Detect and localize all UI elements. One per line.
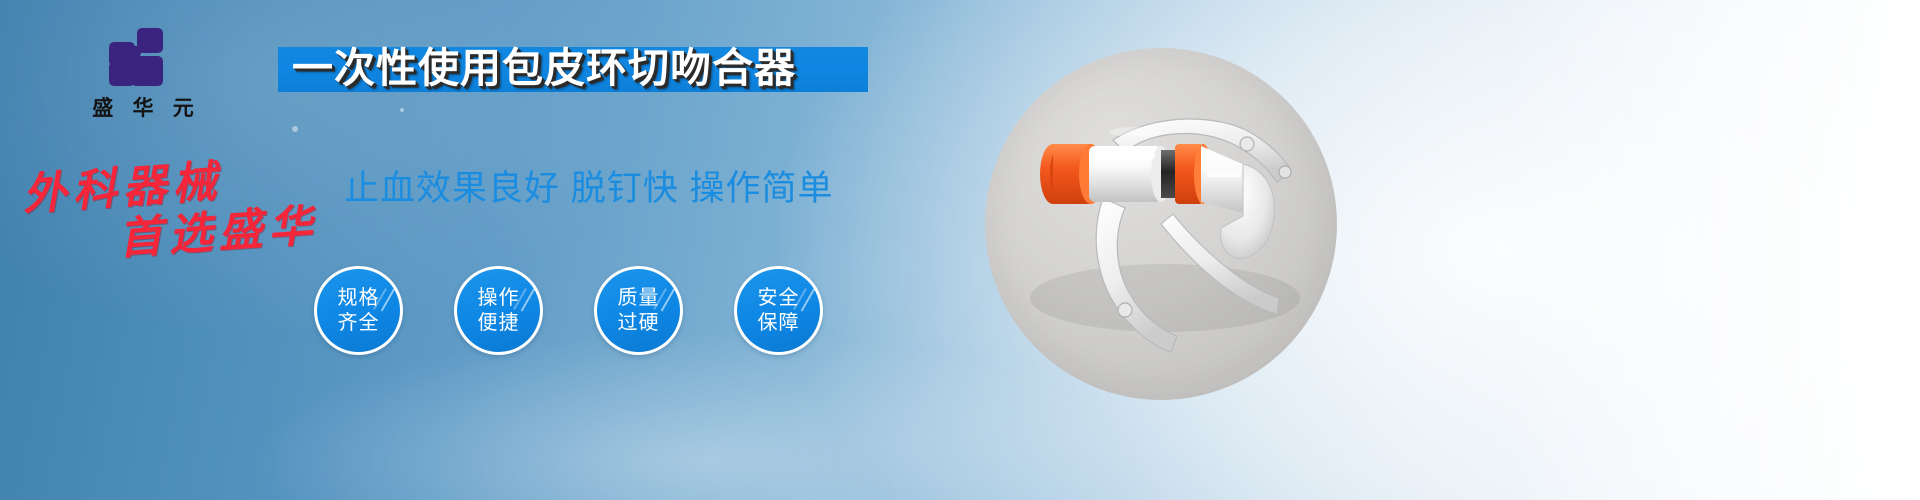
slash-decoration-icon bbox=[521, 285, 538, 312]
feature-badge-label-bottom: 保障 bbox=[758, 311, 800, 336]
feature-badge-safety[interactable]: 安全 保障 bbox=[734, 266, 823, 355]
slash-decoration-icon bbox=[801, 285, 818, 312]
feature-badge-list: 规格 齐全 操作 便捷 质量 过硬 安全 保障 bbox=[314, 266, 823, 355]
feature-badge-label-top: 安全 bbox=[758, 286, 800, 311]
subtitle: 止血效果良好 脱钉快 操作简单 bbox=[344, 166, 833, 212]
background-glow-bottom bbox=[250, 330, 1150, 500]
logo-mark-icon bbox=[109, 28, 177, 86]
feature-badge-label-bottom: 过硬 bbox=[618, 311, 660, 336]
page-title: 一次性使用包皮环切吻合器 bbox=[292, 40, 892, 96]
slogan-line-2: 首选盛华 bbox=[116, 189, 320, 267]
decorative-dot bbox=[292, 126, 298, 132]
right-edge-fade bbox=[1500, 0, 1920, 500]
feature-badge-label-bottom: 齐全 bbox=[338, 311, 380, 336]
slash-decoration-icon bbox=[381, 285, 398, 312]
decorative-dot bbox=[400, 108, 404, 112]
feature-badge-label-bottom: 便捷 bbox=[478, 311, 520, 336]
feature-badge-label-top: 操作 bbox=[478, 286, 520, 311]
logo-wordmark: 盛 华 元 bbox=[58, 92, 228, 122]
feature-badge-spec[interactable]: 规格 齐全 bbox=[314, 266, 403, 355]
feature-badge-label-top: 规格 bbox=[338, 286, 380, 311]
feature-badge-operation[interactable]: 操作 便捷 bbox=[454, 266, 543, 355]
product-photo[interactable] bbox=[985, 48, 1337, 400]
nose-cone bbox=[1201, 146, 1247, 214]
brand-logo[interactable]: 盛 华 元 bbox=[58, 28, 228, 122]
feature-badge-label-top: 质量 bbox=[618, 286, 660, 311]
slash-decoration-icon bbox=[661, 285, 678, 312]
promo-banner: 盛 华 元 一次性使用包皮环切吻合器 外科器械 首选盛华 止血效果良好 脱钉快 … bbox=[0, 0, 1920, 500]
dark-band bbox=[1161, 150, 1177, 198]
feature-badge-quality[interactable]: 质量 过硬 bbox=[594, 266, 683, 355]
product-illustration-icon bbox=[985, 48, 1337, 400]
